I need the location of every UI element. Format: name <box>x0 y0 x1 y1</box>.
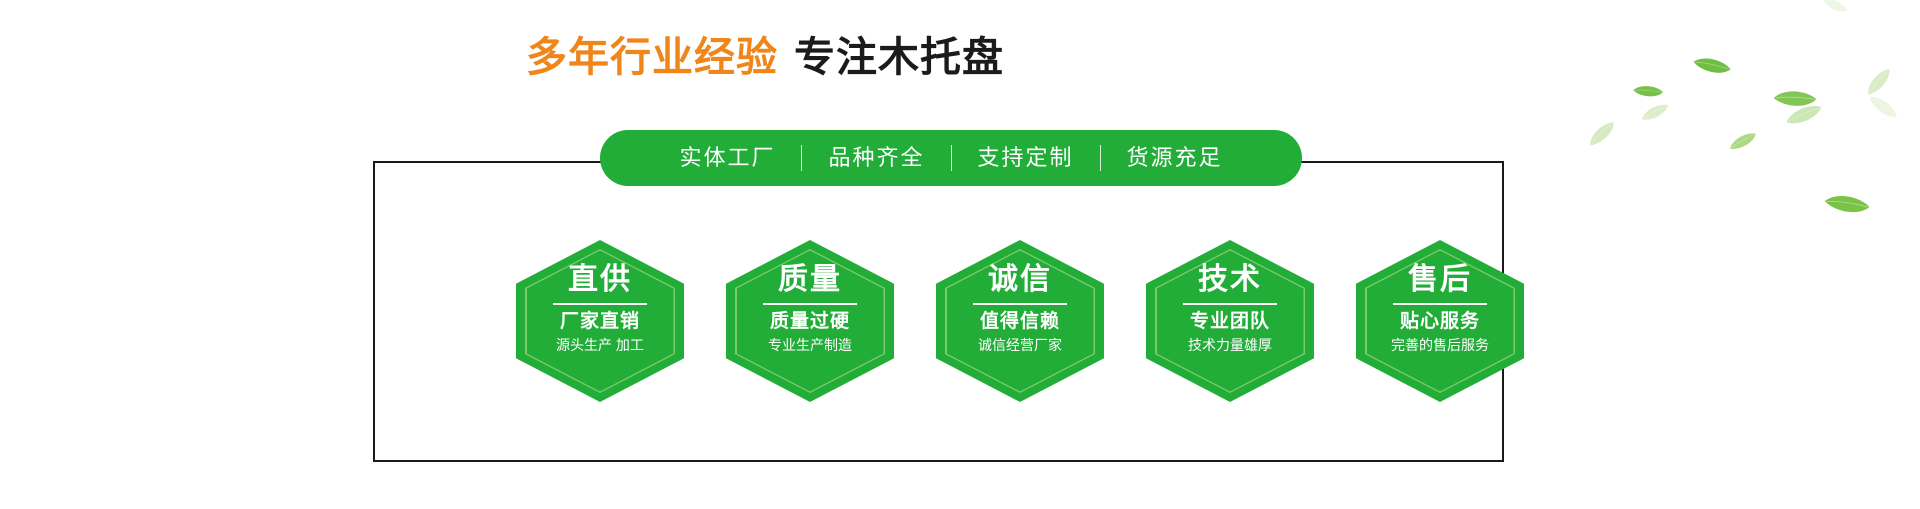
banner-root: 多年行业经验专注木托盘 实体工厂品种齐全支持定制货源充足 直供厂家直销源头生产 … <box>0 0 1920 509</box>
leaf-icon <box>1639 103 1671 122</box>
feature-title: 售后 <box>1408 264 1472 296</box>
feature-title: 诚信 <box>988 264 1052 296</box>
feature-hexagon-content: 售后贴心服务完善的售后服务 <box>1356 240 1524 402</box>
feature-title: 直供 <box>568 264 632 296</box>
pill-item-2[interactable]: 品种齐全 <box>802 147 950 169</box>
feature-description: 诚信经营厂家 <box>978 336 1062 354</box>
leaf-icon <box>1771 84 1818 115</box>
feature-hexagon-2[interactable]: 质量质量过硬专业生产制造 <box>726 240 894 402</box>
feature-hexagon-4[interactable]: 技术专业团队技术力量雄厚 <box>1146 240 1314 402</box>
feature-hexagon-content: 质量质量过硬专业生产制造 <box>726 240 894 402</box>
feature-title: 技术 <box>1198 264 1262 296</box>
feature-subtitle: 专业团队 <box>1190 311 1270 333</box>
feature-divider <box>553 303 647 305</box>
leaf-icon <box>1822 0 1849 18</box>
feature-hexagon-row: 直供厂家直销源头生产 加工质量质量过硬专业生产制造诚信值得信赖诚信经营厂家技术专… <box>373 240 1504 402</box>
headline-rest: 专注木托盘 <box>794 34 1004 80</box>
leaf-icon <box>1632 80 1665 102</box>
feature-subtitle: 质量过硬 <box>770 311 850 333</box>
headline-highlight: 多年行业经验 <box>526 34 778 80</box>
feature-hexagon-3[interactable]: 诚信值得信赖诚信经营厂家 <box>936 240 1104 402</box>
feature-divider <box>1183 303 1277 305</box>
feature-hexagon-content: 直供厂家直销源头生产 加工 <box>516 240 684 402</box>
feature-description: 完善的售后服务 <box>1391 336 1489 354</box>
feature-hexagon-5[interactable]: 售后贴心服务完善的售后服务 <box>1356 240 1524 402</box>
feature-description: 源头生产 加工 <box>556 336 644 354</box>
feature-description: 技术力量雄厚 <box>1188 336 1272 354</box>
page-title: 多年行业经验专注木托盘 <box>0 30 1530 85</box>
leaf-icon <box>1784 104 1824 125</box>
pill-item-4[interactable]: 货源充足 <box>1101 147 1249 169</box>
feature-divider <box>1393 303 1487 305</box>
leaf-icon <box>1861 67 1897 98</box>
leaf-icon <box>1727 132 1759 152</box>
pill-item-1[interactable]: 实体工厂 <box>653 147 801 169</box>
feature-title: 质量 <box>778 264 842 296</box>
feature-hexagon-content: 技术专业团队技术力量雄厚 <box>1146 240 1314 402</box>
pill-item-3[interactable]: 支持定制 <box>952 147 1100 169</box>
leaf-icon <box>1867 89 1899 124</box>
feature-divider <box>973 303 1067 305</box>
feature-hexagon-1[interactable]: 直供厂家直销源头生产 加工 <box>516 240 684 402</box>
highlights-pill-bar: 实体工厂品种齐全支持定制货源充足 <box>600 130 1302 186</box>
leaf-icon <box>1584 120 1621 148</box>
feature-hexagon-content: 诚信值得信赖诚信经营厂家 <box>936 240 1104 402</box>
feature-subtitle: 值得信赖 <box>980 311 1060 333</box>
leaf-icon <box>1691 50 1732 82</box>
feature-subtitle: 厂家直销 <box>560 311 640 333</box>
feature-divider <box>763 303 857 305</box>
feature-subtitle: 贴心服务 <box>1400 311 1480 333</box>
feature-description: 专业生产制造 <box>768 336 852 354</box>
leaf-icon <box>1822 186 1872 222</box>
